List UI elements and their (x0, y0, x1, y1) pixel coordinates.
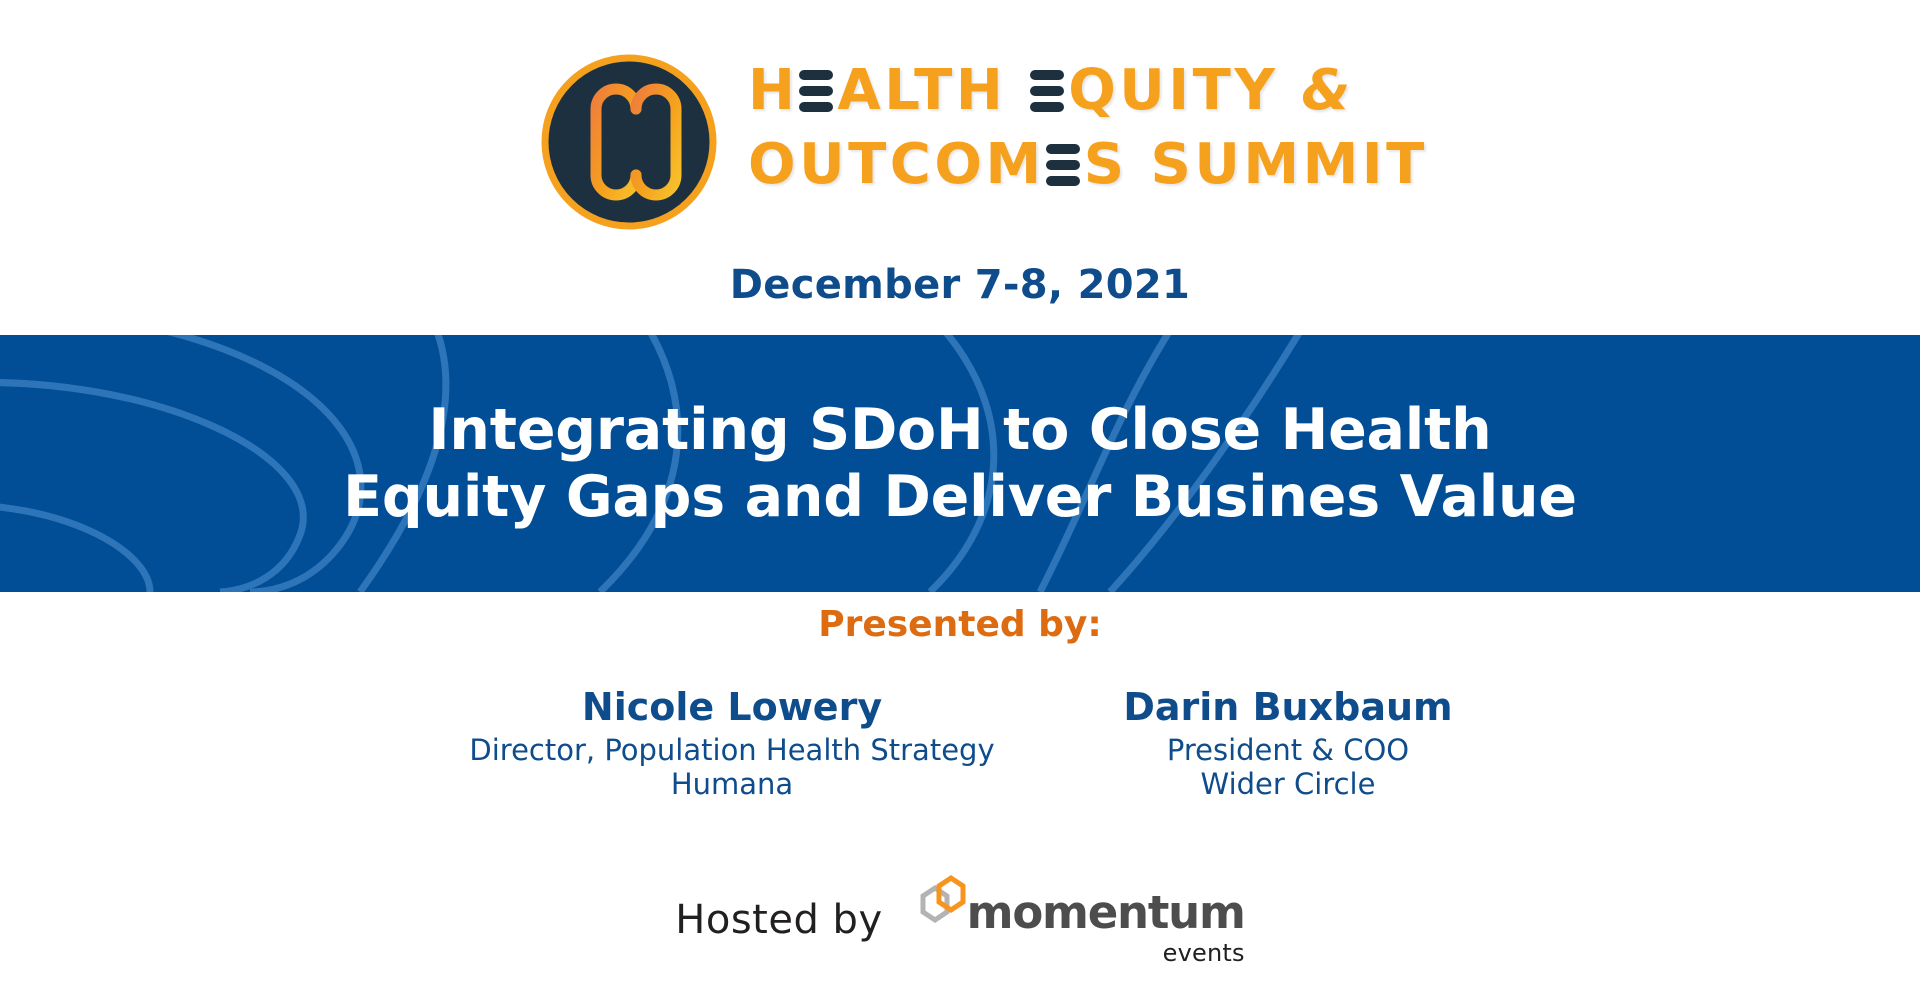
presented-by-label: Presented by: (0, 604, 1920, 645)
speaker-title: President & COO (1068, 733, 1508, 767)
event-date: December 7-8, 2021 (0, 262, 1920, 308)
stylized-e-icon (1030, 69, 1064, 113)
health-equity-outcomes-summit-monogram-icon (538, 51, 720, 233)
hosted-by-label: Hosted by (675, 897, 882, 943)
title-banner: Integrating SDoH to Close Health Equity … (0, 335, 1920, 592)
speaker-name: Nicole Lowery (412, 686, 1052, 729)
summit-logo-lockup: HALTH QUITY & OUTCOMS SUMMIT (538, 46, 1428, 233)
wordmark-h: H (748, 58, 798, 123)
summit-wordmark: HALTH QUITY & OUTCOMS SUMMIT (748, 54, 1428, 203)
momentum-hexagons-icon (913, 874, 971, 936)
speaker-name: Darin Buxbaum (1068, 686, 1508, 729)
momentum-events-logo: momentum events (913, 872, 1245, 967)
speakers-list: Nicole Lowery Director, Population Healt… (0, 686, 1920, 801)
webinar-title-line-1: Integrating SDoH to Close Health (428, 397, 1491, 463)
wordmark-line-2: OUTCOMS SUMMIT (748, 128, 1428, 202)
host-name: momentum (967, 890, 1245, 935)
stylized-e-icon (1046, 143, 1080, 187)
speaker-card: Darin Buxbaum President & COO Wider Circ… (1068, 686, 1508, 801)
wordmark-quity: QUITY (1068, 58, 1301, 123)
speaker-title: Director, Population Health Strategy (412, 733, 1052, 767)
wordmark-line-1: HALTH QUITY & (748, 54, 1428, 128)
wordmark-s-summit: S SUMMIT (1084, 132, 1428, 197)
wordmark-outcom: OUTCOM (748, 132, 1045, 197)
stylized-e-icon (799, 69, 833, 113)
wordmark-ampersand: & (1301, 58, 1353, 123)
momentum-wordmark: momentum events (967, 872, 1245, 967)
host-subtitle: events (967, 939, 1245, 967)
header-section: HALTH QUITY & OUTCOMS SUMMIT December 7-… (0, 0, 1920, 335)
speaker-card: Nicole Lowery Director, Population Healt… (412, 686, 1052, 801)
speaker-organization: Humana (412, 767, 1052, 801)
hosted-by-section: Hosted by momentum events (0, 872, 1920, 967)
webinar-title: Integrating SDoH to Close Health Equity … (0, 335, 1920, 592)
wordmark-alth: ALTH (837, 58, 1029, 123)
speaker-organization: Wider Circle (1068, 767, 1508, 801)
webinar-title-line-2: Equity Gaps and Deliver Busines Value (343, 464, 1577, 530)
